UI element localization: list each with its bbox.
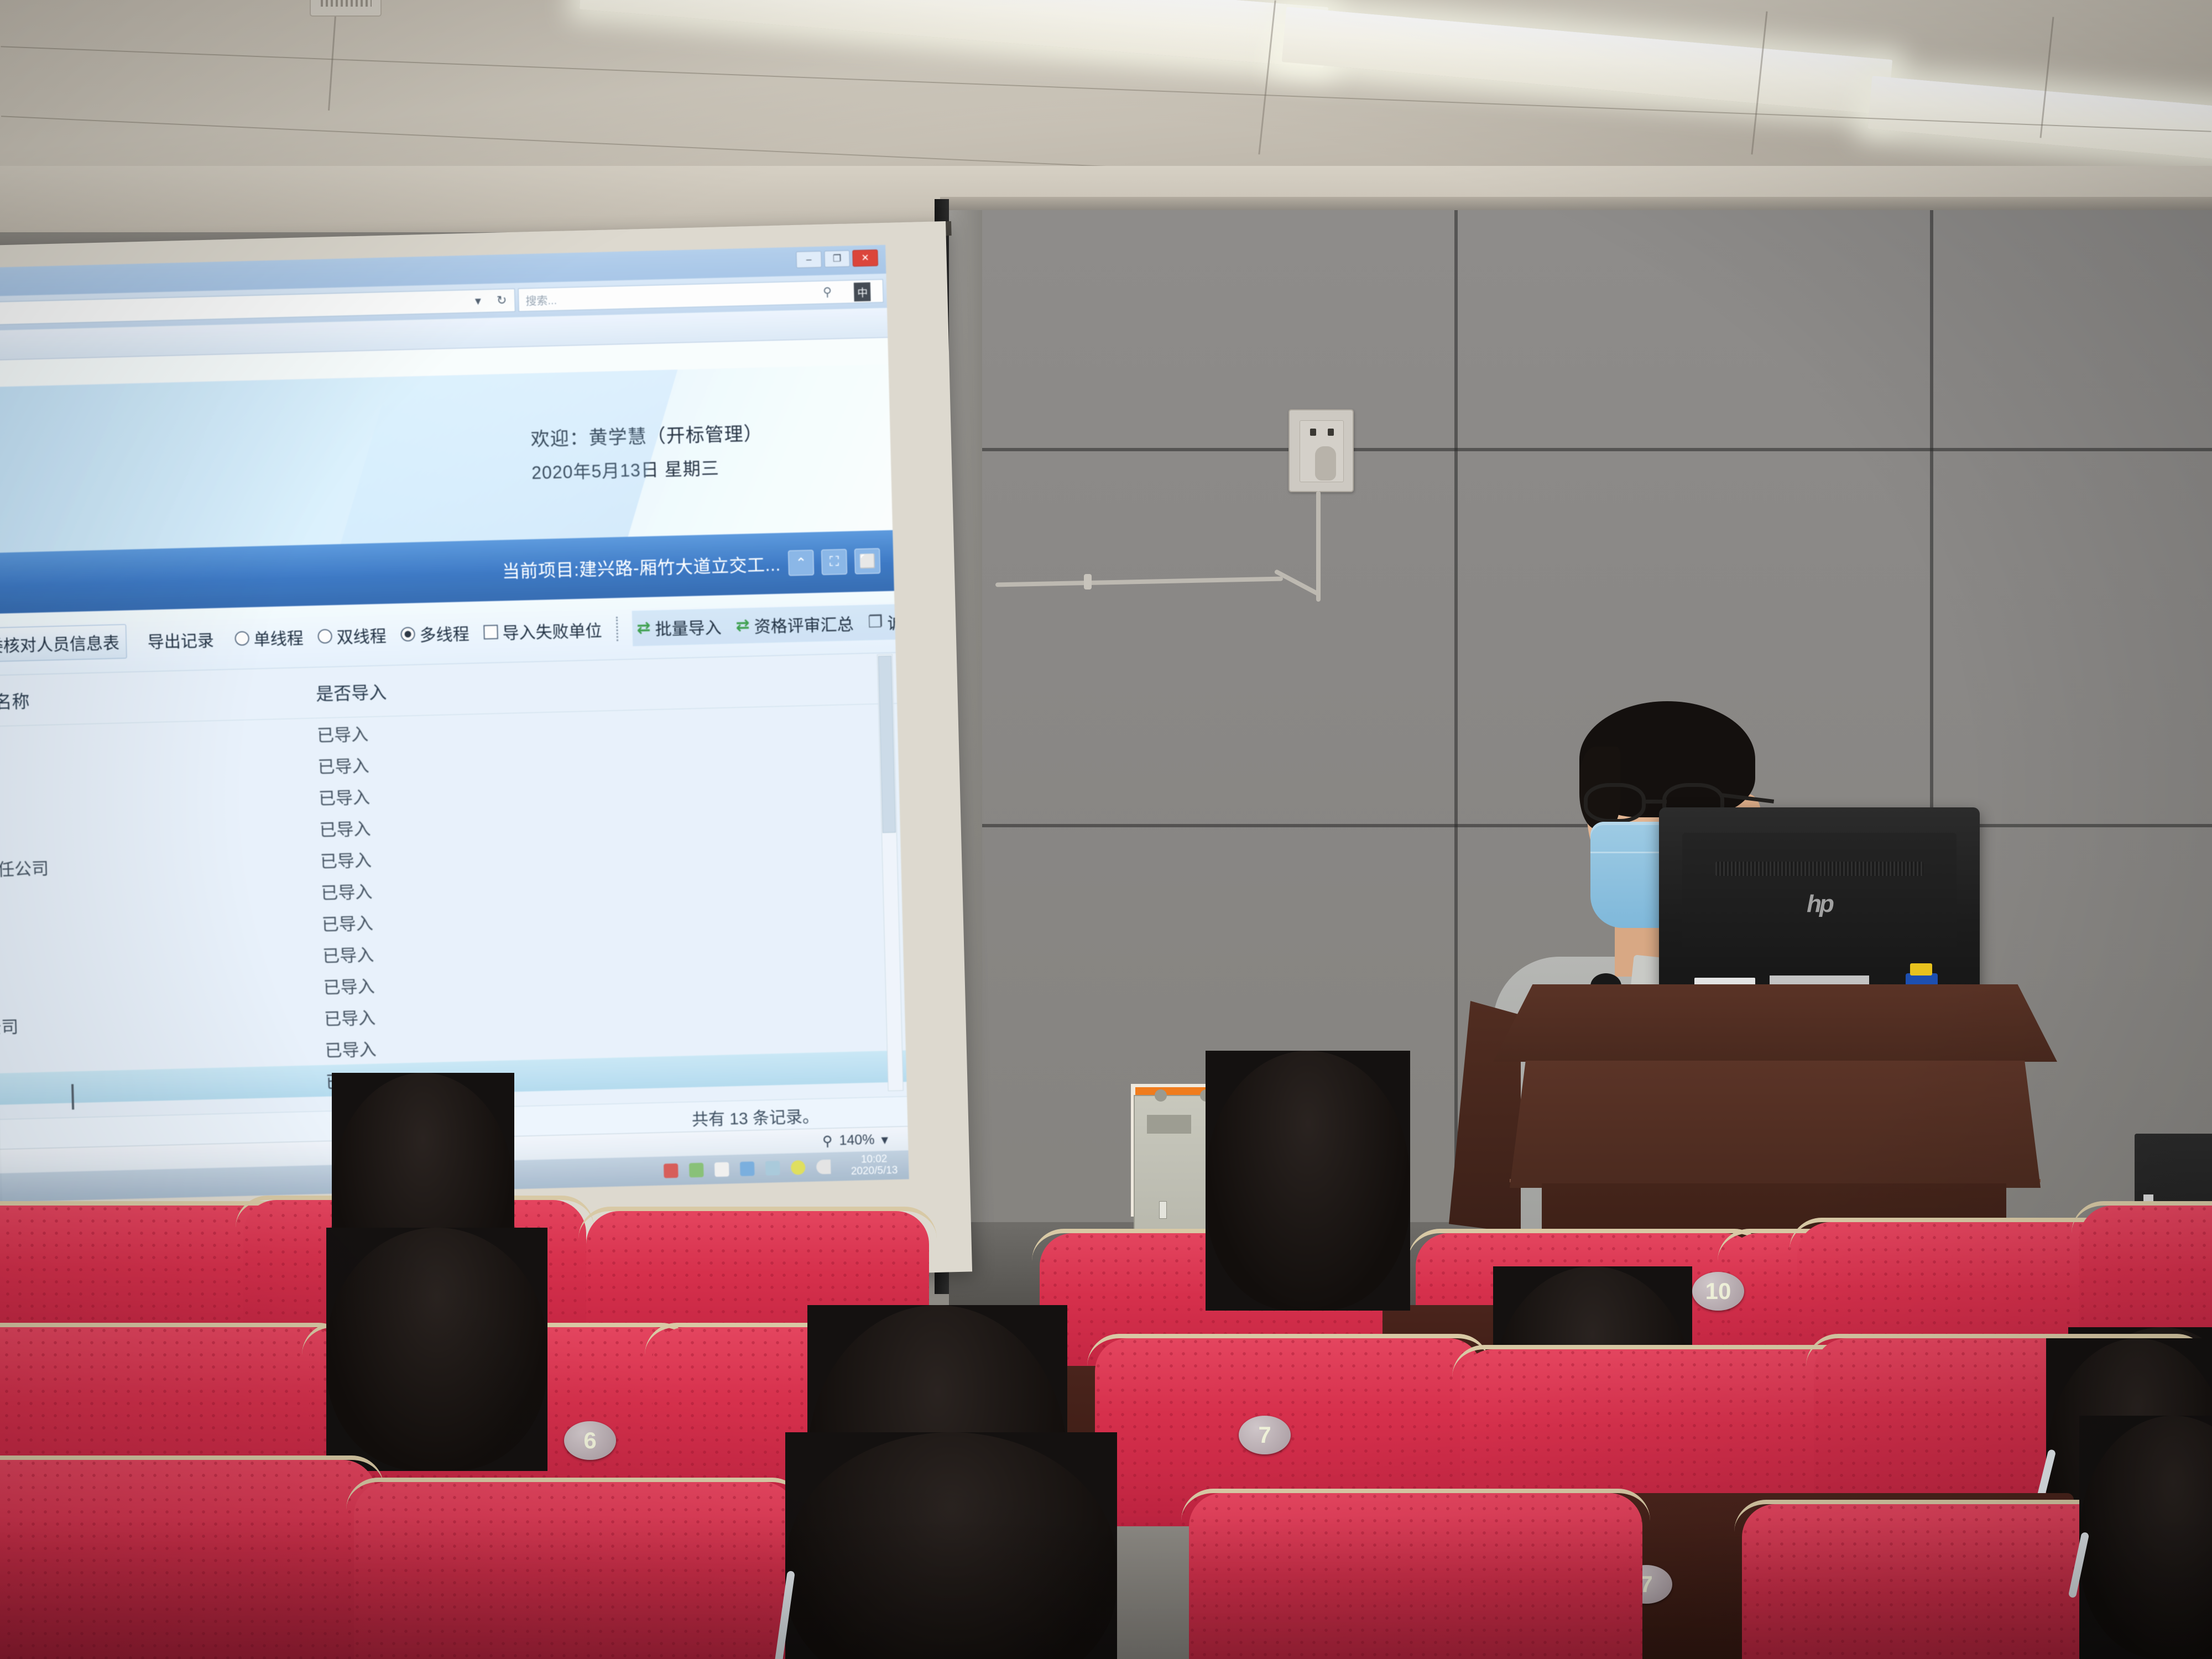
outlet-face bbox=[1300, 420, 1344, 482]
pen-tool-icon[interactable] bbox=[714, 1162, 729, 1177]
radio-single-thread-label: 单线程 bbox=[253, 624, 304, 650]
export-records-button[interactable]: 导出记录 bbox=[140, 622, 221, 658]
welcome-user-text: 欢迎：黄学慧（开标管理） bbox=[530, 418, 763, 451]
cell-import-status: 已导入 bbox=[308, 1031, 574, 1062]
cell-bidder-name bbox=[0, 987, 307, 995]
seat-number-plate: 7 bbox=[1239, 1416, 1291, 1454]
smoke-detector-icon bbox=[310, 0, 382, 17]
cell-import-status: 已导入 bbox=[303, 842, 569, 873]
radio-icon[interactable] bbox=[234, 631, 249, 646]
seat-number: 10 bbox=[1705, 1278, 1731, 1305]
cell-import-status: 已导入 bbox=[304, 873, 570, 905]
conference-room-photo: – ❐ ✕ ▾ ↻ 搜索... ⚲ 中 bbox=[0, 0, 2212, 1659]
cell-import-status: 已导入 bbox=[305, 905, 571, 936]
credit-database-label: 诚信库 bbox=[887, 608, 909, 634]
address-dropdown-icon[interactable]: ▾ bbox=[467, 294, 489, 309]
cell-bidder-name bbox=[0, 734, 300, 743]
radio-icon-selected[interactable] bbox=[400, 627, 415, 641]
cell-import-status: 已导入 bbox=[307, 999, 573, 1031]
toolbar-action-group: ⇄ 批量导入 ⇄ 资格评审汇总 ❐ 诚信库 bbox=[632, 603, 909, 646]
hair bbox=[2079, 1416, 2212, 1659]
cell-bidder-name bbox=[0, 766, 301, 775]
seat[interactable] bbox=[354, 1482, 796, 1659]
volume-icon[interactable] bbox=[816, 1160, 831, 1175]
hp-logo: hp bbox=[1807, 890, 1832, 918]
hair bbox=[1206, 1051, 1410, 1311]
qualification-summary-label: 资格评审汇总 bbox=[754, 611, 854, 638]
ceiling-light-strip-1 bbox=[580, 0, 1328, 68]
seat-rim bbox=[0, 1455, 384, 1488]
qualification-summary-button[interactable]: ⇄ 资格评审汇总 bbox=[735, 611, 854, 638]
lens-left bbox=[1584, 783, 1646, 823]
import-failed-units-checkbox[interactable]: 导入失败单位 bbox=[483, 617, 602, 644]
batch-import-label: 批量导入 bbox=[655, 614, 722, 640]
seat-rim bbox=[1452, 1345, 1866, 1377]
shield-icon[interactable] bbox=[791, 1160, 806, 1175]
glasses-temple bbox=[1721, 793, 1774, 804]
audience-member-head-foreground bbox=[785, 1432, 1117, 1659]
power-cord bbox=[1316, 491, 1321, 602]
cell-import-status: 已导入 bbox=[306, 936, 572, 968]
cell-import-status: 已导入 bbox=[301, 747, 567, 779]
seat-rim bbox=[1181, 1489, 1650, 1521]
collapse-icon[interactable]: ⌃ bbox=[788, 550, 814, 576]
hair bbox=[326, 1228, 547, 1471]
cell-bidder-name bbox=[0, 1081, 309, 1090]
cell-bidder-name: 限责任公司 bbox=[0, 848, 304, 882]
sogou-ime-icon[interactable] bbox=[664, 1164, 679, 1178]
restore-button[interactable]: ❐ bbox=[824, 250, 850, 267]
close-button[interactable]: ✕ bbox=[852, 249, 878, 267]
wall-panel-seam bbox=[940, 448, 2212, 451]
audience-member-head bbox=[326, 1228, 547, 1471]
plug-icon bbox=[1315, 446, 1336, 481]
radio-multi-thread[interactable]: 多线程 bbox=[400, 620, 469, 646]
sync-arrows-icon: ⇄ bbox=[735, 615, 750, 635]
fullscreen-icon[interactable]: ⛶ bbox=[821, 549, 847, 575]
monitor-icon[interactable]: ⬜ bbox=[854, 548, 880, 574]
power-cord-clip bbox=[1084, 574, 1092, 589]
seat-cushion bbox=[0, 1460, 376, 1659]
hp-monitor: hp bbox=[1659, 807, 1980, 1001]
radio-double-thread-label: 双线程 bbox=[336, 622, 387, 648]
projected-application: – ❐ ✕ ▾ ↻ 搜索... ⚲ 中 bbox=[0, 245, 909, 1203]
network-icon[interactable] bbox=[765, 1161, 780, 1176]
zoom-level: 140% bbox=[839, 1132, 875, 1149]
glasses-bridge bbox=[1645, 800, 1667, 804]
radio-multi-thread-label: 多线程 bbox=[419, 620, 469, 646]
cell-bidder-name bbox=[0, 1050, 309, 1058]
column-header-import-status: 是否导入 bbox=[299, 674, 565, 706]
seat-rim bbox=[0, 1323, 351, 1355]
search-icon[interactable]: ⚲ bbox=[823, 285, 832, 299]
audience-member-head-foreground bbox=[2079, 1416, 2212, 1659]
column-header-bidder-name: 标人名称 bbox=[0, 680, 300, 714]
cell-bidder-name bbox=[0, 924, 305, 932]
cell-import-status: 已导入 bbox=[301, 779, 567, 810]
clock-date: 2020/5/13 bbox=[851, 1165, 898, 1178]
refresh-icon[interactable]: ↻ bbox=[489, 293, 515, 308]
radio-double-thread[interactable]: 双线程 bbox=[317, 622, 387, 648]
cabinet-knob bbox=[1155, 1089, 1167, 1102]
checkbox-icon[interactable] bbox=[483, 624, 498, 639]
minimize-button[interactable]: – bbox=[796, 251, 822, 268]
outlet-hole bbox=[1310, 429, 1316, 436]
window-controls[interactable]: – ❐ ✕ bbox=[796, 249, 878, 268]
database-icon: ❐ bbox=[868, 612, 883, 632]
current-date-text: 2020年5月13日 星期三 bbox=[531, 453, 764, 484]
seat[interactable] bbox=[1189, 1493, 1642, 1659]
cell-bidder-name bbox=[0, 892, 304, 901]
system-tray[interactable] bbox=[664, 1160, 831, 1178]
seat-rim bbox=[346, 1478, 804, 1510]
current-project-label: 当前项目:建兴路-厢竹大道立交工... bbox=[502, 551, 781, 583]
credit-database-button[interactable]: ❐ 诚信库 bbox=[868, 608, 909, 634]
cell-bidder-name bbox=[0, 797, 302, 806]
seat[interactable] bbox=[0, 1460, 376, 1659]
cell-bidder-name: 限公司 bbox=[0, 1006, 308, 1040]
zoom-icon[interactable]: ⚲ bbox=[822, 1133, 833, 1149]
cell-import-status: 已导入 bbox=[306, 968, 572, 999]
wall-panel-seam bbox=[1454, 210, 1458, 1228]
radio-icon[interactable] bbox=[317, 629, 332, 644]
seat-number-plate: 6 bbox=[564, 1421, 616, 1460]
seat-rim bbox=[2072, 1201, 2212, 1233]
blue-app-icon[interactable] bbox=[740, 1161, 755, 1176]
green-app-icon[interactable] bbox=[689, 1163, 704, 1178]
seat-number-plate: 10 bbox=[1692, 1272, 1744, 1311]
podium-desktop bbox=[1493, 984, 2057, 1062]
audience-member-head bbox=[1206, 1051, 1410, 1311]
welcome-block: 欢迎：黄学慧（开标管理） 2020年5月13日 星期三 bbox=[530, 418, 764, 484]
app-header-banner: 欢迎：黄学慧（开标管理） 2020年5月13日 星期三 bbox=[0, 364, 893, 554]
cabinet-plate bbox=[1147, 1115, 1191, 1134]
radio-single-thread[interactable]: 单线程 bbox=[234, 624, 304, 650]
outlet-hole bbox=[1328, 429, 1334, 436]
ceiling-grid-line bbox=[328, 0, 337, 111]
cabinet-handle bbox=[1159, 1201, 1167, 1219]
seat-rim bbox=[1408, 1229, 1766, 1261]
review-sheet-button[interactable]: 评委核对人员信息表 bbox=[0, 624, 127, 662]
batch-import-button[interactable]: ⇄ 批量导入 bbox=[637, 614, 722, 640]
hair bbox=[785, 1432, 1117, 1659]
seat-number: 7 bbox=[1258, 1422, 1271, 1448]
monitor-vent bbox=[1715, 862, 1923, 876]
zoom-caret-icon[interactable]: ▾ bbox=[881, 1131, 888, 1148]
taskbar-clock[interactable]: 10:02 2020/5/13 bbox=[843, 1154, 898, 1178]
seat-number: 6 bbox=[583, 1427, 596, 1454]
podium-front bbox=[1510, 1061, 2041, 1188]
search-input[interactable]: 搜索... ⚲ 中 bbox=[518, 279, 884, 312]
cell-bidder-name bbox=[0, 955, 306, 964]
ime-indicator[interactable]: 中 bbox=[854, 282, 871, 301]
search-placeholder: 搜索... bbox=[525, 291, 557, 307]
seat-rim bbox=[578, 1207, 937, 1239]
power-outlet-icon bbox=[1288, 409, 1354, 492]
cell-bidder-name bbox=[0, 829, 302, 838]
import-failed-units-label: 导入失败单位 bbox=[502, 617, 602, 644]
sync-arrows-icon: ⇄ bbox=[637, 618, 651, 638]
seat-rim bbox=[1087, 1334, 1490, 1366]
cell-import-status: 已导入 bbox=[300, 716, 566, 747]
toolbar-separator bbox=[616, 617, 618, 641]
import-results-table: 标人名称 是否导入 已导入 已导入 已导入 已导入 bbox=[0, 653, 907, 1120]
cell-import-status: 已导入 bbox=[302, 810, 568, 842]
